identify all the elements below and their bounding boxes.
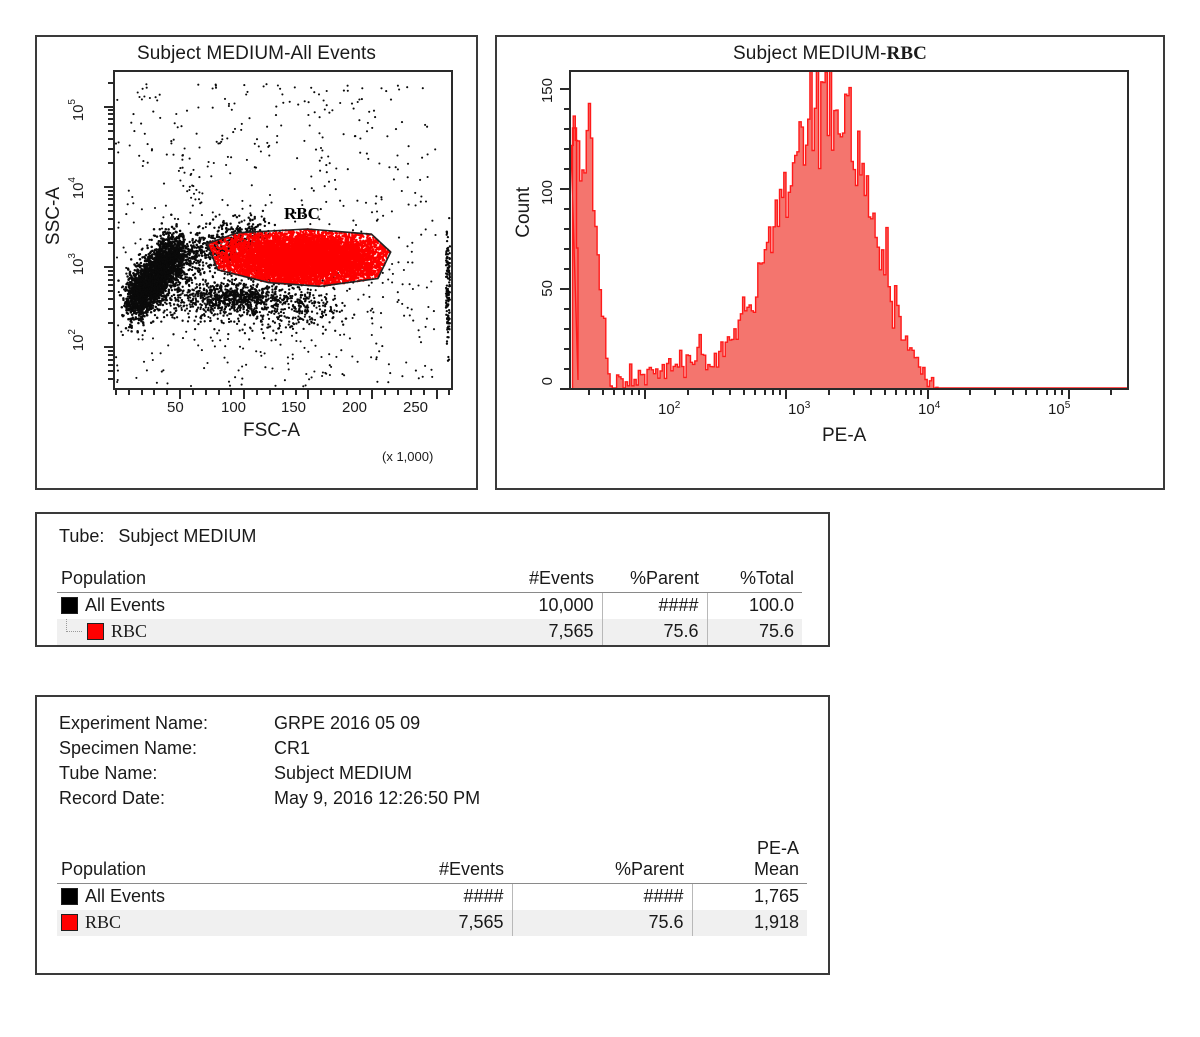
total-cell: 75.6 [707, 619, 802, 645]
meta-row-specimen: Specimen Name:CR1 [59, 736, 480, 761]
table-row[interactable]: All Events #### #### 1,765 [57, 884, 807, 911]
scatter-y-tick-1e5: 105 [67, 99, 87, 121]
table-row[interactable]: All Events 10,000 #### 100.0 [57, 593, 802, 620]
pea-mean-cell: 1,918 [692, 910, 807, 936]
experiment-metadata: Experiment Name:GRPE 2016 05 09 Specimen… [59, 711, 480, 811]
parent-cell: #### [602, 593, 707, 620]
histogram-title: Subject MEDIUM-RBC [497, 43, 1163, 65]
scatter-x-axis-label: FSC-A [243, 420, 300, 442]
tube-summary-panel[interactable]: Tube:Subject MEDIUM Population #Events %… [35, 512, 830, 647]
population-name: All Events [85, 886, 165, 906]
parent-cell: 75.6 [602, 619, 707, 645]
table-row[interactable]: RBC 7,565 75.6 75.6 [57, 619, 802, 645]
population-name: RBC [111, 621, 147, 641]
events-cell: #### [312, 884, 512, 911]
histogram-y-tick-0: 0 [539, 377, 556, 385]
histogram-x-tick-1e2: 102 [658, 400, 680, 418]
scatter-y-tick-1e4: 104 [67, 177, 87, 199]
parent-cell: #### [512, 884, 692, 911]
population-name: RBC [85, 912, 121, 932]
tree-indent-icon [61, 623, 87, 640]
histogram-x-tick-1e3: 103 [788, 400, 810, 418]
table-header-row: Population #Events %Parent PE-A Mean [57, 837, 807, 884]
histogram-x-tick-1e5: 105 [1048, 400, 1070, 418]
histogram-x-tick-1e4: 104 [918, 400, 940, 418]
scatter-x-tick-50: 50 [167, 399, 184, 416]
histogram-panel[interactable]: Subject MEDIUM-RBC Count 0 50 100 150 10… [495, 35, 1165, 490]
rbc-gate-label: RBC [284, 204, 320, 224]
total-cell: 100.0 [707, 593, 802, 620]
tube-line: Tube:Subject MEDIUM [59, 526, 256, 547]
color-swatch [61, 888, 78, 905]
col-parent: %Parent [602, 567, 707, 593]
scatter-points-svg [115, 72, 451, 388]
statistics-table[interactable]: Population #Events %Parent PE-A Mean All… [57, 837, 807, 936]
table-header-row: Population #Events %Parent %Total [57, 567, 802, 593]
events-cell: 10,000 [477, 593, 602, 620]
meta-row-record-date: Record Date:May 9, 2016 12:26:50 PM [59, 786, 480, 811]
meta-value: May 9, 2016 12:26:50 PM [274, 786, 480, 811]
tube-label: Tube: [59, 526, 104, 546]
meta-key: Specimen Name: [59, 736, 274, 761]
scatter-x-tick-200: 200 [342, 399, 367, 416]
meta-key: Experiment Name: [59, 711, 274, 736]
histogram-curve-svg [571, 72, 1127, 388]
col-pea-mean-top: PE-A [700, 838, 799, 859]
col-events: #Events [312, 837, 512, 884]
scatter-plot-panel[interactable]: Subject MEDIUM-All Events SSC-A 102 103 … [35, 35, 478, 490]
color-swatch [87, 623, 104, 640]
meta-row-tube: Tube Name:Subject MEDIUM [59, 761, 480, 786]
histogram-y-axis-label: Count [513, 187, 535, 238]
col-pea-mean-bottom: Mean [700, 859, 799, 880]
histogram-y-tick-100: 100 [539, 180, 556, 205]
scatter-y-axis-label: SSC-A [43, 187, 65, 245]
meta-key: Record Date: [59, 786, 274, 811]
meta-value: Subject MEDIUM [274, 761, 412, 786]
scatter-y-tick-1e2: 102 [67, 329, 87, 351]
events-cell: 7,565 [477, 619, 602, 645]
meta-value: CR1 [274, 736, 310, 761]
scatter-plot-title: Subject MEDIUM-All Events [37, 43, 476, 65]
scatter-x-tick-150: 150 [281, 399, 306, 416]
parent-cell: 75.6 [512, 910, 692, 936]
col-pea-mean: PE-A Mean [692, 837, 807, 884]
pea-mean-cell: 1,765 [692, 884, 807, 911]
histogram-y-tick-150: 150 [539, 78, 556, 103]
scatter-y-tick-1e3: 103 [67, 253, 87, 275]
col-events: #Events [477, 567, 602, 593]
col-population: Population [57, 567, 477, 593]
population-cell[interactable]: All Events [57, 593, 477, 620]
histogram-x-axis-label: PE-A [822, 425, 866, 447]
meta-key: Tube Name: [59, 761, 274, 786]
gating-table[interactable]: Population #Events %Parent %Total All Ev… [57, 567, 802, 645]
scatter-plot-area[interactable] [113, 70, 453, 390]
population-cell[interactable]: RBC [57, 910, 312, 936]
population-name: All Events [85, 595, 165, 615]
statistics-panel[interactable]: Experiment Name:GRPE 2016 05 09 Specimen… [35, 695, 830, 975]
meta-value: GRPE 2016 05 09 [274, 711, 420, 736]
tube-name: Subject MEDIUM [118, 526, 256, 546]
col-parent: %Parent [512, 837, 692, 884]
histogram-y-tick-50: 50 [539, 280, 556, 297]
scatter-x-scale-note: (x 1,000) [382, 449, 433, 464]
population-cell[interactable]: RBC [57, 619, 477, 645]
table-row[interactable]: RBC 7,565 75.6 1,918 [57, 910, 807, 936]
population-cell[interactable]: All Events [57, 884, 312, 911]
scatter-x-tick-100: 100 [221, 399, 246, 416]
histogram-plot-area[interactable] [569, 70, 1129, 390]
meta-row-experiment: Experiment Name:GRPE 2016 05 09 [59, 711, 480, 736]
events-cell: 7,565 [312, 910, 512, 936]
col-population: Population [57, 837, 312, 884]
scatter-x-tick-250: 250 [403, 399, 428, 416]
col-total: %Total [707, 567, 802, 593]
color-swatch [61, 597, 78, 614]
color-swatch [61, 914, 78, 931]
